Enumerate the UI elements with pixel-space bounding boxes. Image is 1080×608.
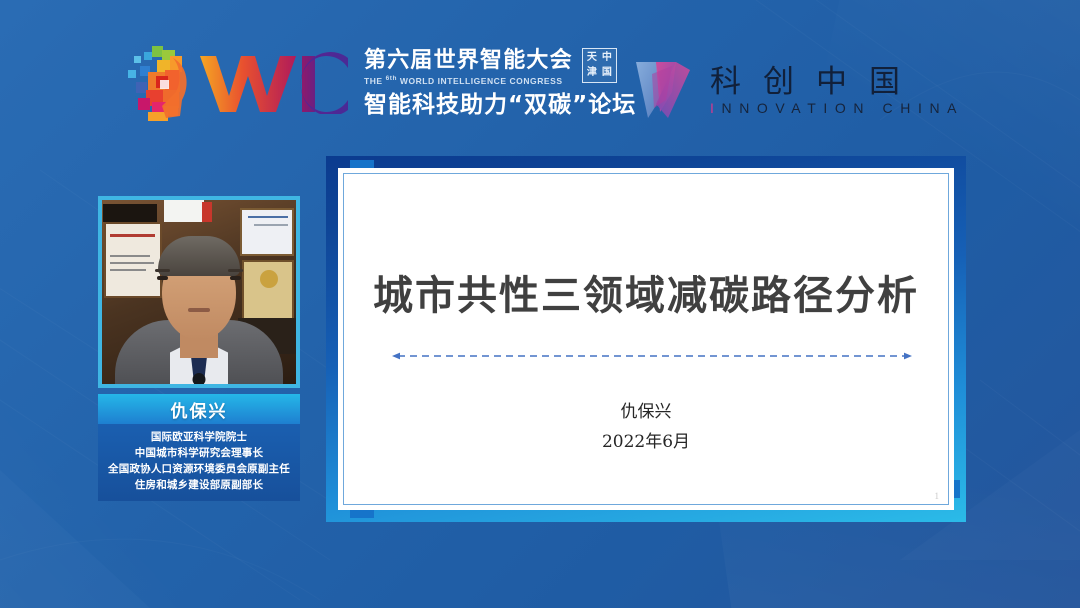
- header-logo-bar: 第六届世界智能大会 THE 6th WORLD INTELLIGENCE CON…: [0, 0, 1080, 150]
- wic-text-block: 第六届世界智能大会 THE 6th WORLD INTELLIGENCE CON…: [364, 42, 636, 122]
- wic-forum-name: 智能科技助力“双碳”论坛: [364, 93, 636, 117]
- slide-frame: 城市共性三领域减碳路径分析 仇保兴 2022年6月 1: [326, 156, 966, 522]
- slide-page-number: 1: [935, 491, 940, 501]
- speaker-title-line: 住房和城乡建设部原副部长: [135, 479, 263, 492]
- speaker-name: 仇保兴: [171, 397, 228, 422]
- innovation-china-logo: 科创中国 INNOVATION CHINA: [632, 56, 964, 126]
- speaker-title-line: 全国政协人口资源环境委员会原副主任: [108, 463, 290, 476]
- innovation-china-en: INNOVATION CHINA: [710, 100, 964, 116]
- speaker-photo: [102, 200, 296, 384]
- slide-presenter-name: 仇保兴: [344, 399, 948, 426]
- tianjin-china-stamp-icon: 天 中 津 国: [582, 48, 617, 83]
- wic-congress-title-en: THE 6th WORLD INTELLIGENCE CONGRESS: [364, 75, 573, 86]
- speaker-title-line: 国际欧亚科学院院士: [151, 431, 247, 444]
- wic-wordmark-icon: [198, 52, 348, 114]
- slide-date: 2022年6月: [344, 426, 948, 458]
- wic-congress-title-cn: 第六届世界智能大会: [364, 49, 573, 72]
- speaker-panel: 仇保兴 国际欧亚科学院院士 中国城市科学研究会理事长 全国政协人口资源环境委员会…: [98, 196, 300, 501]
- butterfly-mark-icon: [632, 56, 694, 126]
- speaker-title-line: 中国城市科学研究会理事长: [135, 447, 263, 460]
- innovation-china-text: 科创中国 INNOVATION CHINA: [710, 66, 964, 117]
- slide-subtitle-block: 仇保兴 2022年6月: [344, 399, 948, 458]
- pixel-head-icon: [118, 40, 196, 124]
- speaker-titles-list: 国际欧亚科学院院士 中国城市科学研究会理事长 全国政协人口资源环境委员会原副主任…: [98, 424, 300, 501]
- presentation-stage: 第六届世界智能大会 THE 6th WORLD INTELLIGENCE CON…: [0, 0, 1080, 608]
- innovation-china-cn: 科创中国: [710, 66, 964, 99]
- slide-white-mat: 城市共性三领域减碳路径分析 仇保兴 2022年6月 1: [338, 168, 954, 510]
- title-dashed-arrow-rule: [392, 351, 912, 361]
- slide-content: 城市共性三领域减碳路径分析 仇保兴 2022年6月 1: [343, 173, 949, 505]
- speaker-name-badge: 仇保兴: [98, 394, 300, 424]
- speaker-video-frame[interactable]: [98, 196, 300, 388]
- wic-logo: 第六届世界智能大会 THE 6th WORLD INTELLIGENCE CON…: [118, 42, 636, 122]
- slide-title: 城市共性三领域减碳路径分析: [344, 274, 948, 318]
